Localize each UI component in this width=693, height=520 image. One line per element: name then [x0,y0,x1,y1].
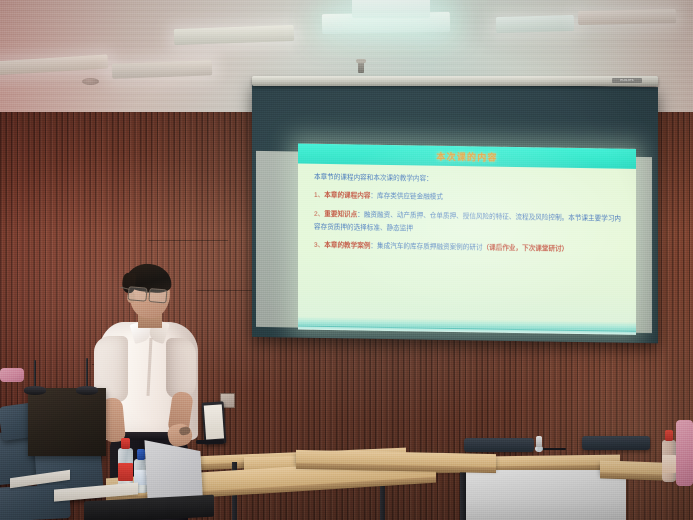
pink-bag [676,420,693,486]
pink-bag [0,368,24,382]
microphone-base [76,386,98,395]
front-desk-wing [296,450,496,468]
slide-item-body: 集成汽车的库存质押融资案例的研讨 [377,243,483,252]
slide-header-band: 本次课的内容 [298,144,636,169]
bottle-cap [536,436,541,447]
slide-item-number: 1、 [314,192,324,199]
smoke-detector-icon [82,78,99,85]
projector-screen-roller: PHILIPS [252,76,658,86]
microphone-base [24,386,46,395]
slide-item-key: 本章的教学案例 [324,242,370,250]
slide-body: 本章节的课程内容和本次课的教学内容： 1、本章的课程内容：库存类供应链金融模式 … [314,172,626,263]
slide-footer-band [298,317,636,335]
recessed-linear-light [352,0,430,18]
slide-intro-line: 本章节的课程内容和本次课的教学内容： [314,172,626,190]
water-bottle [662,430,676,482]
slide-item-key: 重要知识点 [324,211,357,219]
water-bottle [535,436,543,452]
swivel-chair [582,436,650,450]
slide-item-highlight: （课后作业，下次课堂研讨） [483,244,569,252]
eyeglasses-icon [128,286,173,303]
slide-item-key: 本章的课程内容 [324,192,370,200]
classroom-photo: PHILIPS 本次课的内容 本章节的课程内容和本次课的教学内容： 1、本章的课… [0,0,693,520]
slide-title: 本次课的内容 [436,149,497,163]
wall-seam [148,240,228,241]
bottle-cap [665,430,674,441]
sprinkler-icon [358,62,364,73]
desk-monitor [202,401,227,444]
slide-item-number: 3、 [314,242,324,249]
slide-item-body: 库存类供应链金融模式 [377,193,443,201]
projected-slide: 本次课的内容 本章节的课程内容和本次课的教学内容： 1、本章的课程内容：库存类供… [298,144,636,335]
bottle-cap [121,438,131,449]
slide-intro-text: 本章节的课程内容和本次课的教学内容： [314,174,433,183]
roller-brand-label: PHILIPS [612,78,642,83]
recessed-linear-light [496,15,574,33]
slide-item-number: 2、 [314,210,324,217]
equipment-cabinet [28,388,106,456]
slide-item-sep: ： [357,211,364,218]
bottle-label [662,455,676,473]
eyeglass-lens-right [148,288,167,304]
projector-screen: 本次课的内容 本章节的课程内容和本次课的教学内容： 1、本章的课程内容：库存类供… [252,81,658,343]
bottle-label [118,463,133,481]
slide-item-2: 2、重要知识点：融资融资、动产质押、仓单质押、授信风险的特征、流程及风险控制。本… [314,208,626,239]
desk-cable [540,448,566,450]
slide-item-3: 3、本章的教学案例：集成汽车的库存质押融资案例的研讨（课后作业，下次课堂研讨） [314,240,626,258]
screen-surface: 本次课的内容 本章节的课程内容和本次课的教学内容： 1、本章的课程内容：库存类供… [252,81,658,343]
eyeglass-lens-left [127,286,147,302]
monitor-stand [196,440,224,444]
lecturer-sleeve-right [166,338,196,398]
monitor-screen [204,404,225,439]
slide-item-1: 1、本章的课程内容：库存类供应链金融模式 [314,190,626,208]
recessed-linear-light [578,9,676,25]
swivel-chair [464,438,534,452]
